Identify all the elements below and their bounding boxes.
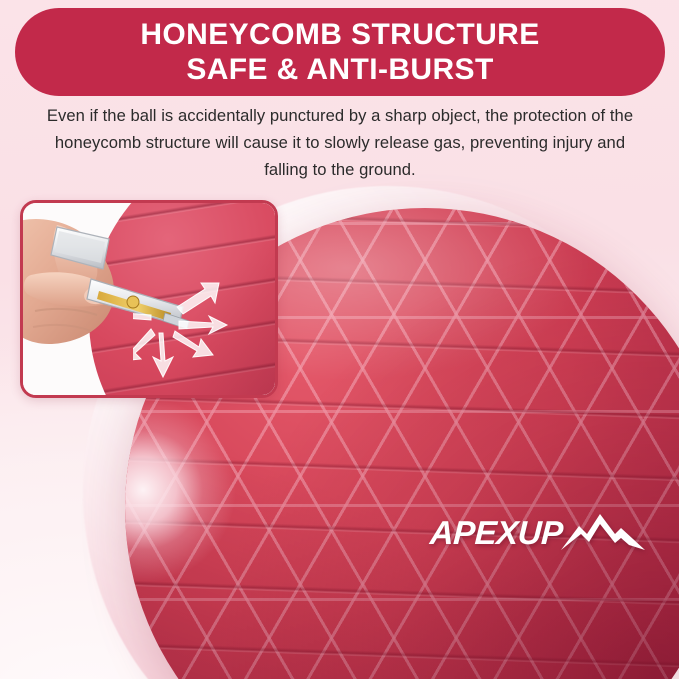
puncture-demo-panel — [20, 200, 278, 398]
headline-banner: HONEYCOMB STRUCTURE SAFE & ANTI-BURST — [15, 8, 665, 96]
brand-logo: APEXUP — [430, 512, 647, 552]
headline-line-1: HONEYCOMB STRUCTURE — [140, 17, 539, 52]
brand-wordmark: APEXUP — [429, 516, 563, 549]
headline-line-2: SAFE & ANTI-BURST — [186, 52, 493, 87]
description-text: Even if the ball is accidentally punctur… — [34, 103, 646, 184]
mountain-peaks-icon — [559, 512, 647, 552]
puncture-demo-photo — [23, 203, 275, 395]
product-feature-image: APEXUP HONEYCOMB STRUCTURE SAFE & ANTI-B… — [0, 0, 679, 679]
escaping-gas-arrows-icon — [133, 281, 253, 391]
